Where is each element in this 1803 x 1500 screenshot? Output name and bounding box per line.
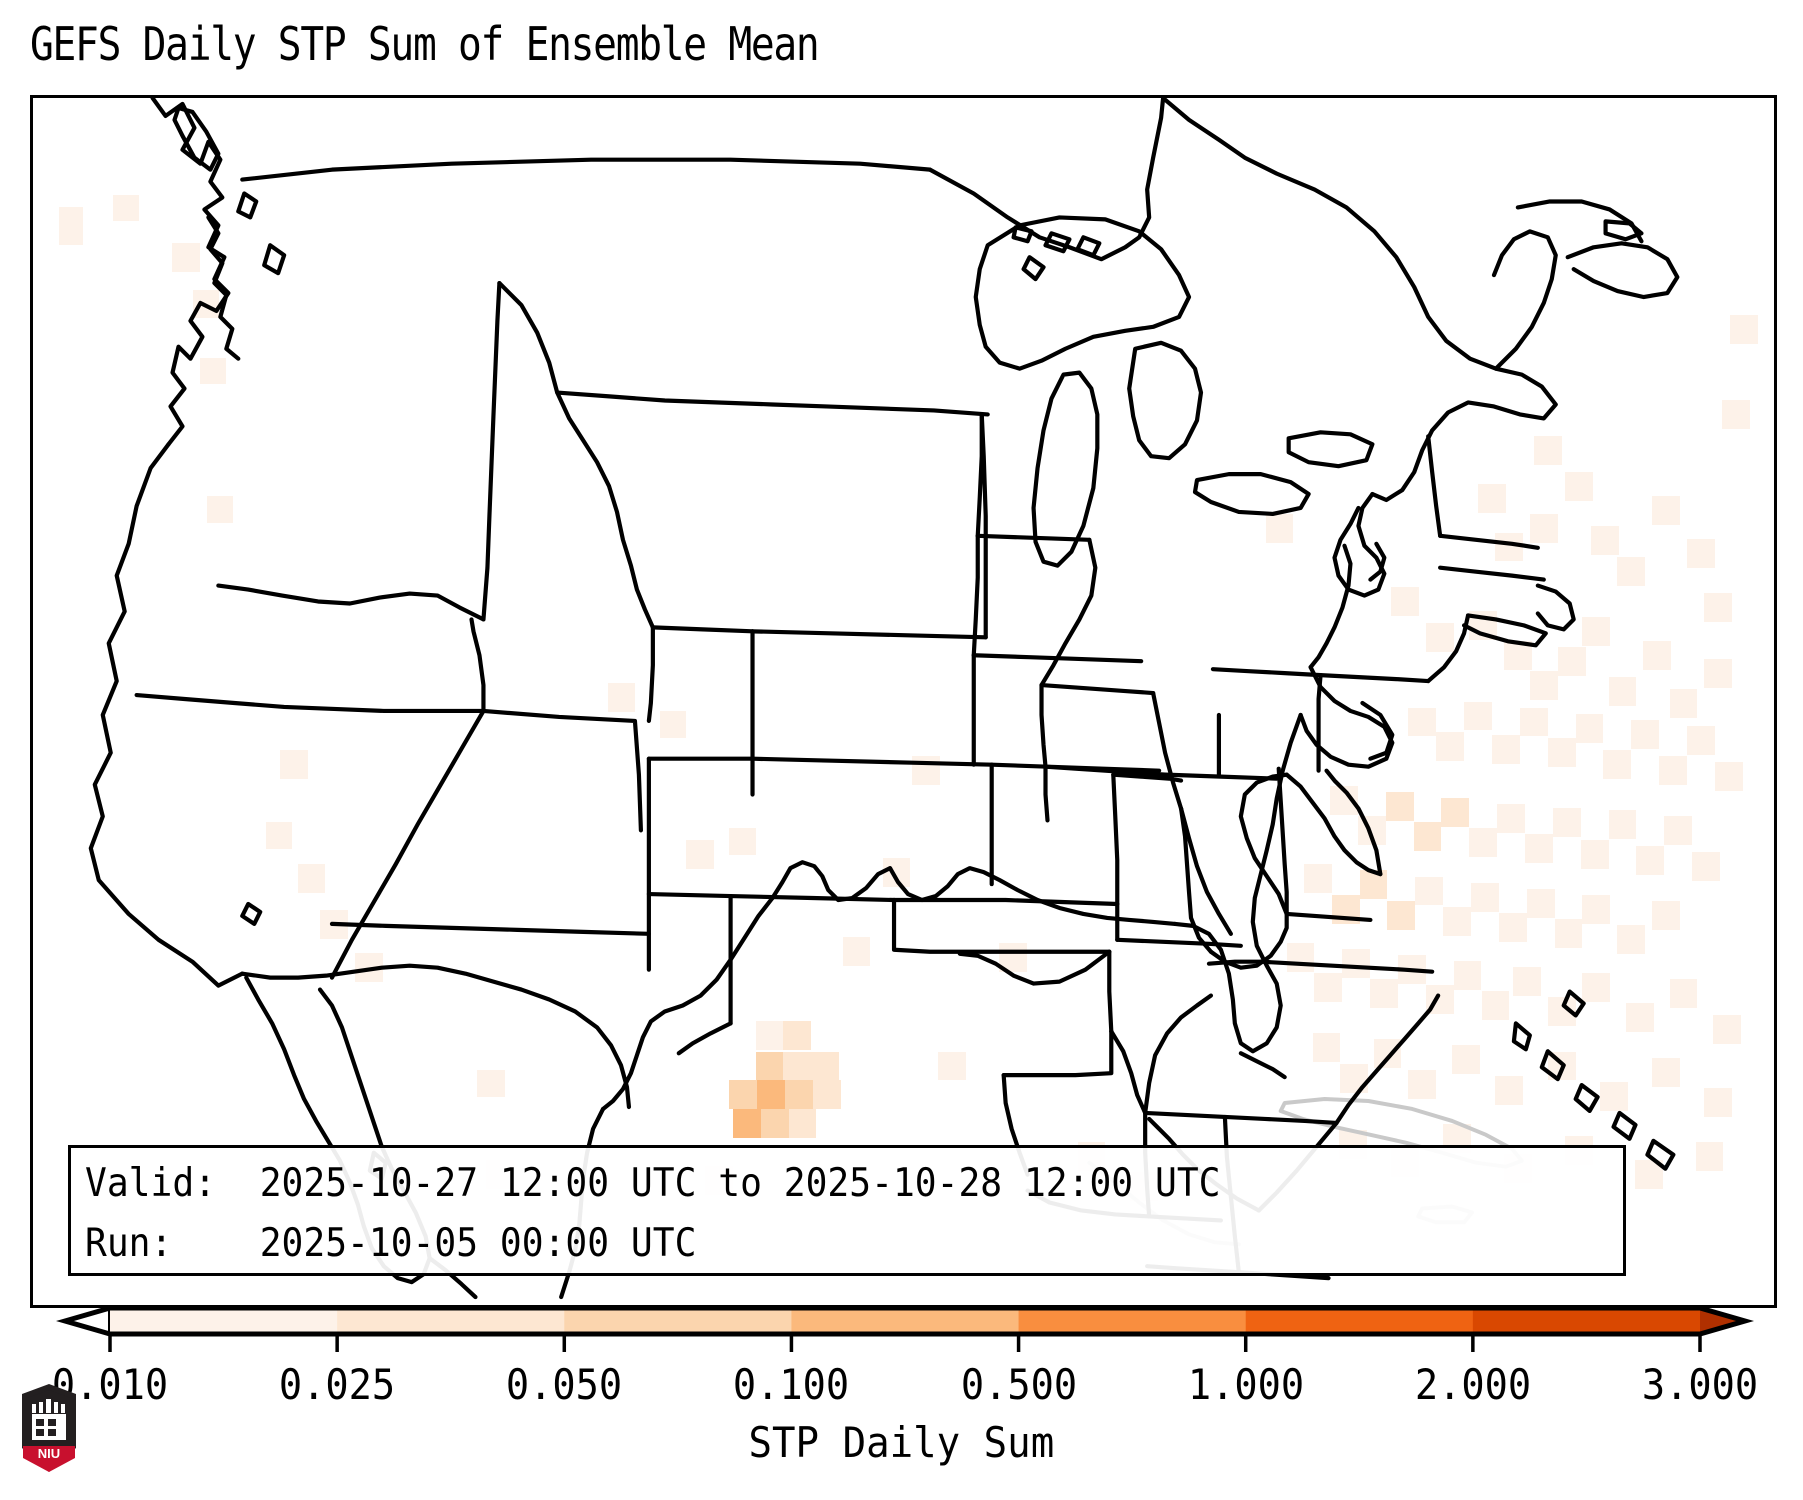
border-tn-ms-al-ga — [1145, 1113, 1336, 1123]
border-tn-ky — [1145, 996, 1211, 1113]
colorbar-axis-label: STP Daily Sum — [0, 1418, 1803, 1467]
maine-coast — [1494, 231, 1556, 368]
border-wa-id-east — [483, 283, 499, 619]
border-oh-pa — [1319, 675, 1321, 771]
border-co-wy-ne — [753, 759, 992, 765]
border-wi-il — [1042, 685, 1166, 775]
run-time-line: Run: 2025-10-05 00:00 UTC — [85, 1214, 1502, 1274]
colorbar-tick-label: 0.025 — [279, 1360, 395, 1409]
logo-banner-text: NIU — [38, 1446, 60, 1461]
border-or-ca-nv — [137, 695, 484, 711]
colorbar-segment — [1246, 1308, 1474, 1334]
colorbar-axis-label-text: STP Daily Sum — [749, 1418, 1055, 1467]
colorbar[interactable] — [0, 1302, 1803, 1362]
weather-map-figure: GEFS Daily STP Sum of Ensemble Mean — [0, 0, 1803, 1500]
border-ny-ma-ct — [1440, 536, 1538, 548]
info-box: Valid: 2025-10-27 12:00 UTC to 2025-10-2… — [68, 1145, 1626, 1276]
colorbar-segment — [791, 1308, 1019, 1334]
border-ok-ar — [1109, 952, 1111, 1032]
valid-time-line: Valid: 2025-10-27 12:00 UTC to 2025-10-2… — [85, 1154, 1502, 1214]
border-id-mt-west — [499, 283, 652, 627]
border-canada-49th — [242, 160, 930, 180]
map-plot-area — [30, 95, 1777, 1308]
border-mt-canada-south — [557, 393, 988, 415]
border-nd-sd — [978, 414, 982, 535]
colorbar-segment — [1473, 1308, 1701, 1334]
pei-island — [1606, 221, 1642, 239]
map-geography-svg — [33, 98, 1774, 1305]
coastline-southeast — [1175, 715, 1301, 1051]
colorbar-segment — [564, 1308, 792, 1334]
lake-erie — [1195, 474, 1309, 514]
long-island — [1464, 615, 1546, 645]
border-il-in — [1181, 808, 1211, 951]
bahamas-islands — [1514, 992, 1673, 1169]
colorbar-tick-label: 1.000 — [1188, 1360, 1304, 1409]
colorbar-tick-label: 0.100 — [733, 1360, 849, 1409]
colorbar-ticks — [110, 1334, 1700, 1352]
nova-scotia-edge — [1568, 243, 1678, 297]
border-nd-mn — [978, 536, 1090, 540]
coastline-gulf-florida — [890, 868, 1175, 924]
border-ma-ct-ri — [1440, 568, 1544, 580]
border-wa-or — [218, 586, 483, 620]
colorbar-tick-label: 3.000 — [1642, 1360, 1758, 1409]
border-or-id — [471, 619, 483, 711]
colorbar-tick-label: 2.000 — [1415, 1360, 1531, 1409]
colorbar-tick-labels: 0.0100.0250.0500.1000.5001.0002.0003.000 — [0, 1360, 1803, 1412]
colorbar-segments — [65, 1308, 1745, 1334]
page-title: GEFS Daily STP Sum of Ensemble Mean — [30, 17, 818, 71]
border-ia-il — [1153, 693, 1181, 808]
border-tx-ok-east — [960, 952, 1109, 984]
colorbar-tick-label: 0.500 — [960, 1360, 1076, 1409]
colorbar-tick-label: 0.050 — [506, 1360, 622, 1409]
border-wy-mt — [753, 631, 986, 637]
coastline-texas — [603, 898, 772, 1109]
border-nv-ut-az — [483, 711, 640, 830]
colorbar-segment — [1019, 1308, 1247, 1334]
border-pa-ny — [1213, 669, 1321, 675]
cape-cod — [1538, 586, 1574, 630]
mexico-small-island — [242, 904, 260, 924]
border-az-nm-ca — [332, 924, 649, 934]
border-il-wi-mi — [1046, 767, 1048, 821]
chesapeake-bay — [1311, 546, 1351, 667]
border-canada-great-lakes — [930, 98, 1163, 259]
border-ok-tx-north — [894, 900, 1109, 952]
outer-banks — [1362, 703, 1392, 759]
coastline-carolina — [1301, 667, 1393, 767]
lake-huron — [1129, 343, 1201, 458]
colorbar-svg[interactable] — [0, 1302, 1803, 1360]
border-nm-tx-west — [679, 1023, 731, 1053]
lake-ontario — [1289, 432, 1373, 466]
border-ca-nv — [332, 711, 483, 978]
colorbar-segment — [110, 1308, 338, 1334]
border-ks-ok-line — [894, 900, 1117, 904]
border-oh-wv-pa — [1287, 914, 1371, 920]
island-small-pnw-b — [264, 245, 284, 273]
coastline-california — [91, 444, 242, 985]
island-vancouver — [175, 108, 219, 170]
border-va-nc — [1261, 962, 1432, 972]
lake-superior-islands — [1014, 227, 1100, 279]
florida-keys — [1241, 1053, 1285, 1077]
island-small-pnw-a — [238, 194, 256, 218]
border-mo-ar — [1117, 940, 1241, 946]
border-ar-ms — [1111, 1031, 1145, 1113]
border-ks-mo — [1113, 775, 1117, 904]
coastline-gulf-louisiana — [772, 862, 890, 900]
border-pa-md-east — [1321, 675, 1429, 681]
border-ny-vt-nh — [1428, 436, 1440, 536]
border-id-wy — [653, 627, 753, 631]
border-ar-la-tx — [1004, 1031, 1112, 1075]
border-ia-mn-wi — [1042, 685, 1154, 693]
niu-logo: NIU — [18, 1382, 80, 1474]
border-id-ut-nv — [649, 627, 653, 721]
colorbar-segment — [337, 1308, 565, 1334]
